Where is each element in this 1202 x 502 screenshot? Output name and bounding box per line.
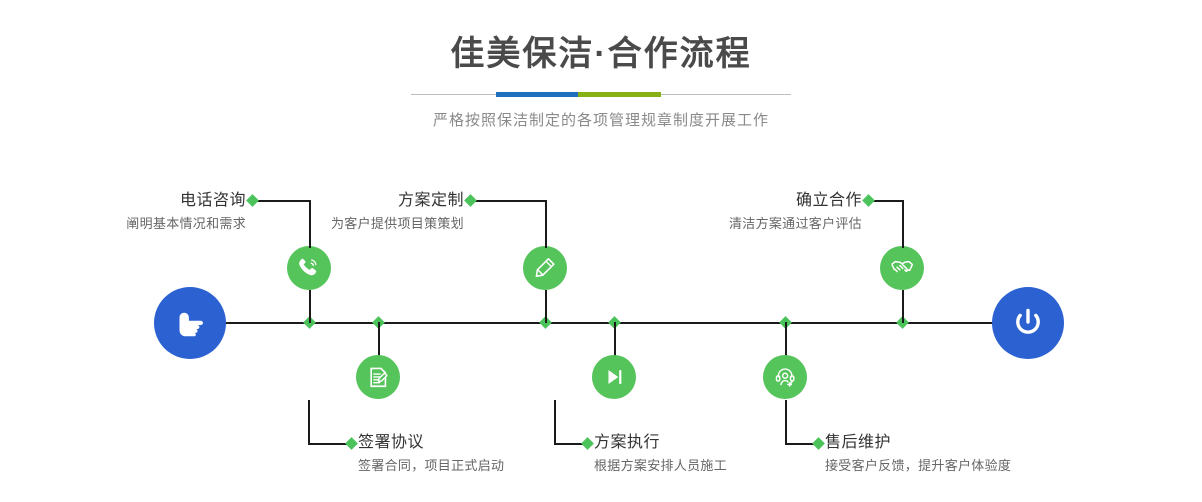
connector-vline-step-2-axis xyxy=(378,322,380,356)
step-node-1[interactable] xyxy=(287,246,331,290)
label-marker-step-2 xyxy=(345,437,358,450)
connector-vline-step-4-axis xyxy=(614,322,616,356)
step-title-2: 签署协议 xyxy=(358,432,504,453)
label-marker-step-5 xyxy=(862,194,875,207)
step-desc-1: 阐明基本情况和需求 xyxy=(30,214,246,233)
step-desc-3: 为客户提供项目策策划 xyxy=(250,214,464,233)
step-node-2[interactable] xyxy=(356,355,400,399)
step-label-6: 售后维护 接受客户反馈，提升客户体验度 xyxy=(825,432,1011,475)
play-execute-icon xyxy=(602,365,626,389)
label-marker-step-3 xyxy=(464,194,477,207)
step-desc-4: 根据方案安排人员施工 xyxy=(594,456,727,475)
power-icon xyxy=(1008,303,1048,343)
step-label-3: 方案定制 为客户提供项目策策划 xyxy=(250,190,464,233)
connector-vline-step-4-label xyxy=(554,400,556,444)
label-marker-step-6 xyxy=(812,437,825,450)
step-node-4[interactable] xyxy=(592,355,636,399)
step-desc-2: 签署合同，项目正式启动 xyxy=(358,456,504,475)
connector-vline-step-3-axis xyxy=(545,290,547,323)
sign-document-icon xyxy=(366,365,391,390)
step-title-3: 方案定制 xyxy=(250,190,464,211)
step-title-4: 方案执行 xyxy=(594,432,727,453)
step-desc-5: 清洁方案通过客户评估 xyxy=(648,214,862,233)
customer-support-icon xyxy=(773,365,798,390)
step-node-6[interactable] xyxy=(763,355,807,399)
infographic-page: 佳美保洁·合作流程 严格按照保洁制定的各项管理规章制度开展工作 xyxy=(0,0,1202,502)
step-node-3[interactable] xyxy=(523,246,567,290)
pointing-hand-icon xyxy=(170,303,210,343)
step-label-2: 签署协议 签署合同，项目正式启动 xyxy=(358,432,504,475)
connector-vline-step-1-axis xyxy=(309,290,311,323)
step-label-1: 电话咨询 阐明基本情况和需求 xyxy=(30,190,246,233)
step-title-6: 售后维护 xyxy=(825,432,1011,453)
connector-vline-step-5-top xyxy=(902,290,904,323)
step-label-5: 确立合作 清洁方案通过客户评估 xyxy=(648,190,862,233)
handshake-icon xyxy=(889,255,915,281)
connector-hline-step-3-label xyxy=(470,200,546,202)
connector-vline-step-6-label xyxy=(785,400,787,444)
process-flow: 电话咨询 阐明基本情况和需求 签署协议 签署合同，项目正式启动 xyxy=(0,0,1202,502)
flow-end-endpoint[interactable] xyxy=(992,287,1064,359)
step-label-4: 方案执行 根据方案安排人员施工 xyxy=(594,432,727,475)
label-marker-step-4 xyxy=(581,437,594,450)
step-title-5: 确立合作 xyxy=(648,190,862,211)
connector-vline-step-5-label xyxy=(902,200,904,248)
step-title-1: 电话咨询 xyxy=(30,190,246,211)
connector-vline-step-2-label xyxy=(308,400,310,444)
connector-vline-step-5-axis xyxy=(785,322,787,356)
step-desc-6: 接受客户反馈，提升客户体验度 xyxy=(825,456,1011,475)
connector-vline-step-3-label xyxy=(545,200,547,248)
connector-hline-step-2-label xyxy=(308,443,350,445)
phone-call-icon xyxy=(296,255,322,281)
flow-start-endpoint[interactable] xyxy=(154,287,226,359)
pencil-plan-icon xyxy=(532,255,558,281)
step-node-5[interactable] xyxy=(880,246,924,290)
